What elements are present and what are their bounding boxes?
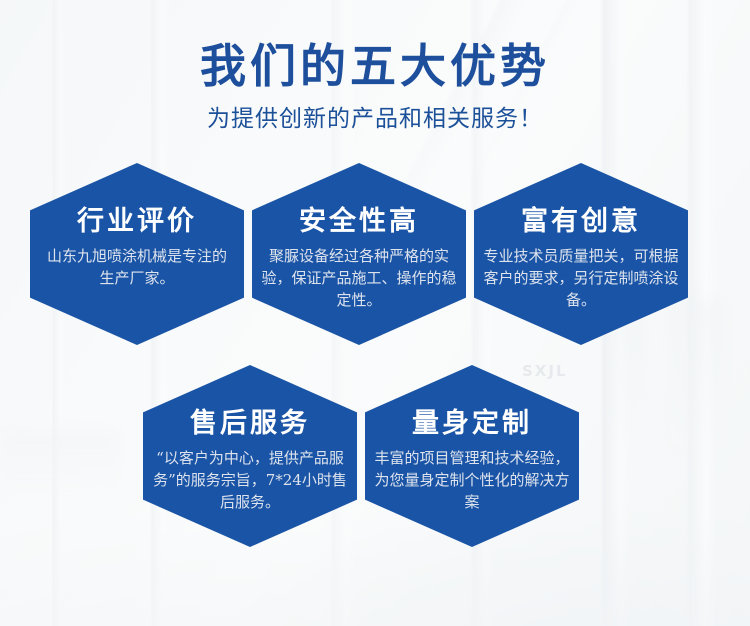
advantage-title: 安全性高 xyxy=(258,205,460,239)
advantage-title: 行业评价 xyxy=(36,205,238,239)
advantage-title: 富有创意 xyxy=(480,205,682,239)
advantages-banner: SXJL 我们的五大优势 为提供创新的产品和相关服务！ 行业评价 山东九旭喷涂机… xyxy=(0,0,750,626)
advantage-body: 山东九旭喷涂机械是专注的生产厂家。 xyxy=(36,245,238,289)
advantage-body: 专业技术员质量把关，可根据客户的要求，另行定制喷涂设备。 xyxy=(480,245,682,311)
advantage-title: 量身定制 xyxy=(371,407,573,441)
advantage-hexagon-high-safety[interactable]: 安全性高 聚脲设备经过各种严格的实验，保证产品施工、操作的稳定性。 xyxy=(252,163,466,345)
advantage-hexagon-creative[interactable]: 富有创意 专业技术员质量把关，可根据客户的要求，另行定制喷涂设备。 xyxy=(474,163,688,345)
banner-heading: 我们的五大优势 为提供创新的产品和相关服务！ xyxy=(0,38,750,134)
advantage-title: 售后服务 xyxy=(149,407,351,441)
page-subtitle: 为提供创新的产品和相关服务！ xyxy=(0,104,750,134)
page-title: 我们的五大优势 xyxy=(0,38,750,94)
advantage-body: “以客户为中心，提供产品服务”的服务宗旨，7*24小时售后服务。 xyxy=(149,447,351,513)
background-machine-block-3 xyxy=(0,432,120,492)
advantage-row-top: 行业评价 山东九旭喷涂机械是专注的生产厂家。 安全性高 聚脲设备经过各种严格的实… xyxy=(30,163,720,345)
advantage-body: 聚脲设备经过各种严格的实验，保证产品施工、操作的稳定性。 xyxy=(258,245,460,311)
advantage-body: 丰富的项目管理和技术经验，为您量身定制个性化的解决方案 xyxy=(371,447,573,513)
advantage-row-bottom: 售后服务 “以客户为中心，提供产品服务”的服务宗旨，7*24小时售后服务。 量身… xyxy=(143,365,607,547)
advantage-hexagon-industry-rating[interactable]: 行业评价 山东九旭喷涂机械是专注的生产厂家。 xyxy=(30,163,244,345)
advantage-hexagon-customization[interactable]: 量身定制 丰富的项目管理和技术经验，为您量身定制个性化的解决方案 xyxy=(365,365,579,547)
advantage-hexagon-after-sales[interactable]: 售后服务 “以客户为中心，提供产品服务”的服务宗旨，7*24小时售后服务。 xyxy=(143,365,357,547)
